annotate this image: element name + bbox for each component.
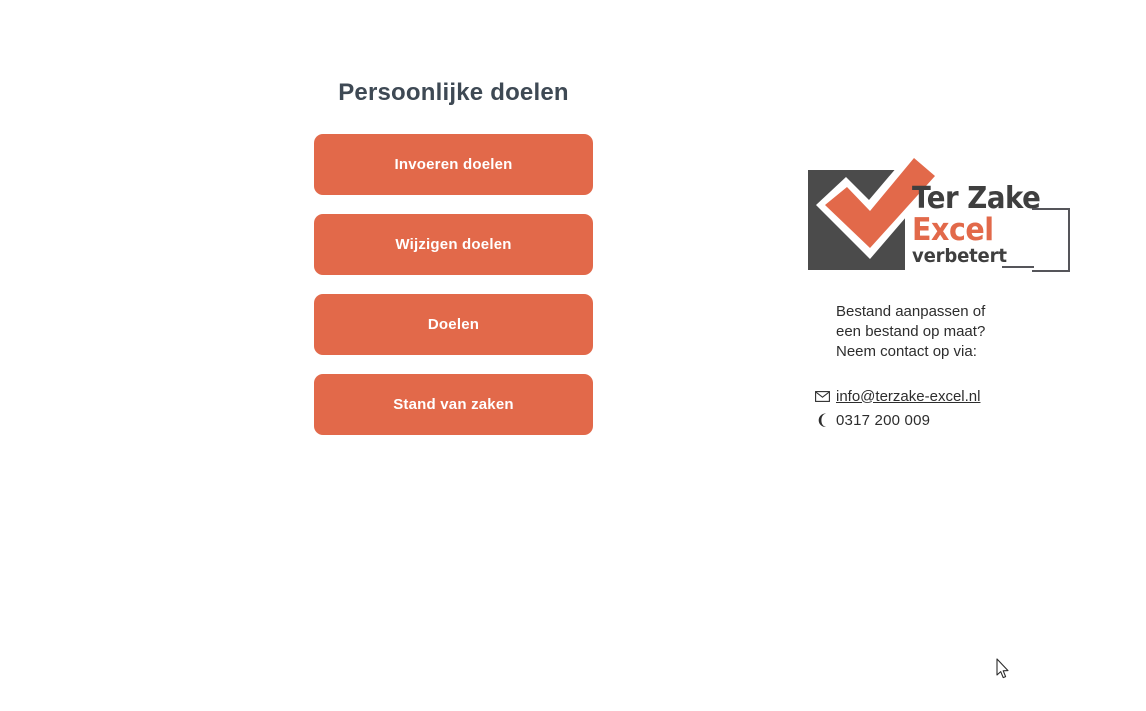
personal-goals-menu-panel: Persoonlijke doelen Invoeren doelen Wijz… — [314, 78, 593, 435]
contact-intro-line-3: Neem contact op via: — [836, 342, 1086, 362]
phone-icon: ❨ — [808, 413, 836, 428]
phone-row: ❨ 0317 200 009 — [808, 408, 1086, 432]
page-title: Persoonlijke doelen — [314, 78, 593, 108]
contact-intro-text: Bestand aanpassen of een bestand op maat… — [836, 302, 1086, 362]
logo-bracket-tail-decoration — [1002, 266, 1034, 268]
stand-van-zaken-button[interactable]: Stand van zaken — [314, 374, 593, 435]
email-row: info@terzake-excel.nl — [808, 384, 1086, 408]
doelen-button[interactable]: Doelen — [314, 294, 593, 355]
contact-intro-line-1: Bestand aanpassen of — [836, 302, 1086, 322]
contact-intro-line-2: een bestand op maat? — [836, 322, 1086, 342]
envelope-icon — [808, 391, 836, 402]
email-link[interactable]: info@terzake-excel.nl — [836, 388, 980, 405]
arrow-cursor-icon — [996, 658, 1010, 680]
phone-glyph: ❨ — [816, 413, 829, 428]
logo-bracket-decoration — [1032, 208, 1070, 272]
contact-links: info@terzake-excel.nl ❨ 0317 200 009 — [808, 384, 1086, 432]
logo-dark-square — [808, 170, 905, 270]
brand-contact-panel: Ter Zake Excel verbetert Bestand aanpass… — [806, 142, 1086, 432]
wijzigen-doelen-button[interactable]: Wijzigen doelen — [314, 214, 593, 275]
ter-zake-excel-logo: Ter Zake Excel verbetert — [806, 142, 1076, 274]
phone-number: 0317 200 009 — [836, 412, 930, 429]
invoeren-doelen-button[interactable]: Invoeren doelen — [314, 134, 593, 195]
